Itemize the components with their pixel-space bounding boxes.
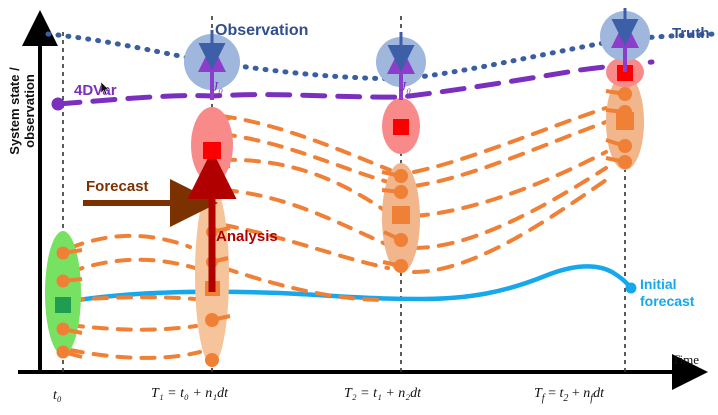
initial-forecast-label: Initial forecast (640, 276, 718, 310)
initial-forecast-endpoint (626, 283, 637, 294)
ensemble-trajectories-seg3 (414, 108, 606, 272)
mouse-cursor-icon (101, 82, 109, 95)
cost-function-label-T1: J₀ (212, 80, 223, 96)
fourdvar-line (58, 62, 652, 104)
ensemble-mean-square-T2 (392, 206, 410, 224)
analysis-label: Analysis (216, 228, 278, 245)
cost-function-label-T2: J₀ (400, 80, 411, 96)
x-tick-t0: t₀ (53, 388, 62, 404)
forecast-label: Forecast (86, 178, 149, 195)
x-tick-T2: T₂ = t₁ + n₂dt (344, 386, 421, 402)
ensemble-mean-square-Tf (616, 112, 634, 130)
ensemble-trajectories-seg2 (222, 116, 390, 300)
observation-label: Observation (215, 22, 308, 40)
figure-canvas: Observation Truth 4DVar Forecast Analysi… (0, 0, 718, 415)
analysis-square-T1 (203, 142, 221, 159)
x-tick-Tf: Tf = t2 + nfdt (534, 386, 604, 404)
x-tick-T1: T₁ = t₀ + n₁dt (151, 386, 228, 402)
x-axis-label: Time (672, 352, 699, 368)
diagram-svg (0, 0, 718, 415)
y-axis-label: System state / observation (7, 31, 37, 191)
analysis-square-T2 (393, 119, 409, 135)
background-mean-square-t0 (55, 297, 71, 313)
fourdvar-start-dot (52, 98, 65, 111)
fourdvar-label: 4DVar (74, 82, 117, 99)
truth-label: Truth (672, 25, 710, 42)
